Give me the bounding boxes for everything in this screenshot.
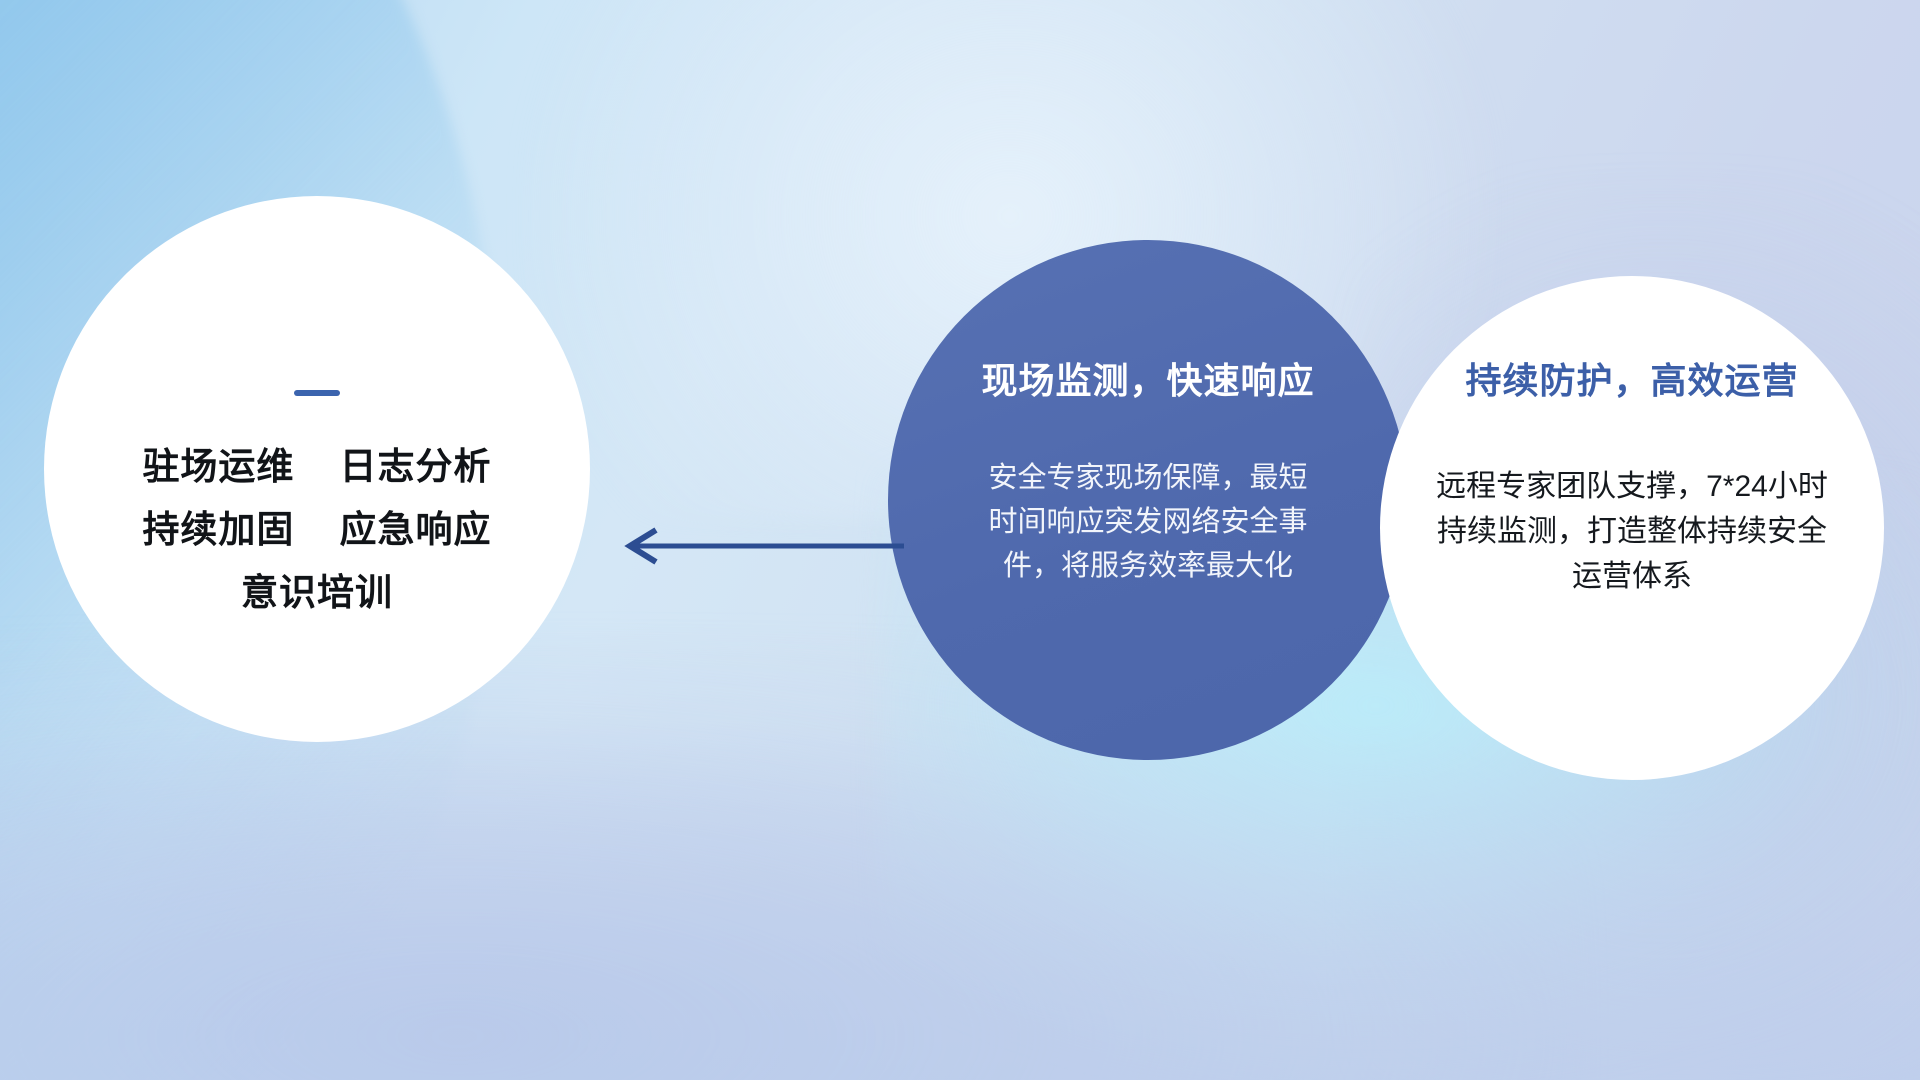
left-arrow xyxy=(608,524,908,568)
right-card-body: 远程专家团队支撑，7*24小时持续监测，打造整体持续安全运营体系 xyxy=(1427,464,1837,599)
list-item: 持续加固 应急响应 xyxy=(142,511,491,548)
middle-card-title: 现场监测，快速响应 xyxy=(981,352,1314,404)
middle-card-body: 安全专家现场保障，最短时间响应突发网络安全事件，将服务效率最大化 xyxy=(983,456,1313,588)
list-item: 驻场运维 日志分析 xyxy=(142,448,491,485)
dash-accent-icon xyxy=(294,390,340,396)
card-circle-service-items[interactable]: 驻场运维 日志分析 持续加固 应急响应 意识培训 xyxy=(44,196,590,742)
list-item: 意识培训 xyxy=(142,574,491,611)
left-card-lines: 驻场运维 日志分析 持续加固 应急响应 意识培训 xyxy=(142,448,491,611)
middle-card-content: 现场监测，快速响应 安全专家现场保障，最短时间响应突发网络安全事件，将服务效率最… xyxy=(888,240,1408,760)
slide-canvas: 现场监测，快速响应 安全专家现场保障，最短时间响应突发网络安全事件，将服务效率最… xyxy=(0,0,1920,1080)
left-card-content: 驻场运维 日志分析 持续加固 应急响应 意识培训 xyxy=(44,196,590,742)
right-card-content: 持续防护，高效运营 远程专家团队支撑，7*24小时持续监测，打造整体持续安全运营… xyxy=(1380,276,1884,780)
card-circle-onsite-monitoring[interactable]: 现场监测，快速响应 安全专家现场保障，最短时间响应突发网络安全事件，将服务效率最… xyxy=(888,240,1408,760)
card-circle-continuous-ops[interactable]: 持续防护，高效运营 远程专家团队支撑，7*24小时持续监测，打造整体持续安全运营… xyxy=(1380,276,1884,780)
right-card-title: 持续防护，高效运营 xyxy=(1465,352,1798,404)
